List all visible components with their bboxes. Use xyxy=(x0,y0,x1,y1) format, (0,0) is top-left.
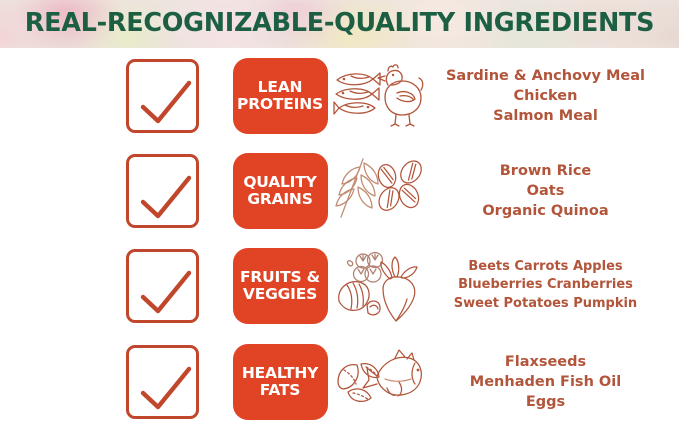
ingredient-list-cell: Sardine & Anchovy Meal Chicken Salmon Me… xyxy=(430,66,679,126)
checkbox-lean-proteins[interactable] xyxy=(126,59,199,133)
checkbox-cell xyxy=(0,345,232,419)
checkbox-quality-grains[interactable] xyxy=(126,154,199,228)
badge-lean-proteins[interactable]: LEAN PROTEINS xyxy=(233,58,328,134)
table-row: QUALITY GRAINS xyxy=(0,143,679,238)
check-mark-icon xyxy=(128,251,203,327)
ingredient-item: Oats xyxy=(527,181,565,201)
wheat-and-grains-icon xyxy=(333,155,425,227)
checkbox-cell xyxy=(0,249,232,323)
blueberries-sweet-potato-beet-icon xyxy=(333,249,425,323)
ingredient-item: Brown Rice xyxy=(500,161,592,181)
ingredient-item: Salmon Meal xyxy=(493,106,598,126)
ingredient-list-cell: Flaxseeds Menhaden Fish Oil Eggs xyxy=(430,352,679,412)
ingredient-rows: LEAN PROTEINS xyxy=(0,48,679,429)
illustration-cell xyxy=(328,346,430,418)
badge-line-2: GRAINS xyxy=(247,191,312,208)
checkbox-fruits-veggies[interactable] xyxy=(126,249,199,323)
badge-line-2: FATS xyxy=(260,382,301,399)
check-mark-icon xyxy=(128,347,203,423)
badge-line-2: VEGGIES xyxy=(243,286,317,303)
badge-line-1: QUALITY xyxy=(243,174,316,191)
illustration-cell xyxy=(328,249,430,323)
illustration-cell xyxy=(328,60,430,132)
header-banner: REAL-RECOGNIZABLE-QUALITY INGREDIENTS xyxy=(0,0,679,48)
checkbox-healthy-fats[interactable] xyxy=(126,345,199,419)
badge-line-1: HEALTHY xyxy=(242,365,318,382)
ingredient-item: Chicken xyxy=(514,86,578,106)
badge-cell: FRUITS & VEGGIES xyxy=(232,248,328,324)
flaxseed-and-fish-icon xyxy=(333,346,425,418)
badge-fruits-veggies[interactable]: FRUITS & VEGGIES xyxy=(233,248,328,324)
table-row: FRUITS & VEGGIES xyxy=(0,238,679,333)
ingredient-item: Flaxseeds xyxy=(505,352,586,372)
illustration-cell xyxy=(328,155,430,227)
checkbox-cell xyxy=(0,154,232,228)
ingredient-item: Organic Quinoa xyxy=(482,201,608,221)
page-title: REAL-RECOGNIZABLE-QUALITY INGREDIENTS xyxy=(0,0,679,48)
table-row: LEAN PROTEINS xyxy=(0,48,679,143)
ingredient-item: Eggs xyxy=(526,392,565,412)
check-mark-icon xyxy=(128,61,203,137)
badge-cell: LEAN PROTEINS xyxy=(232,58,328,134)
ingredient-list-cell: Beets Carrots Apples Blueberries Cranber… xyxy=(430,258,679,314)
ingredient-list-cell: Brown Rice Oats Organic Quinoa xyxy=(430,161,679,221)
badge-quality-grains[interactable]: QUALITY GRAINS xyxy=(233,153,328,229)
ingredient-item: Beets Carrots Apples xyxy=(468,258,622,277)
badge-cell: HEALTHY FATS xyxy=(232,344,328,420)
badge-line-1: LEAN xyxy=(258,79,303,96)
check-mark-icon xyxy=(128,156,203,232)
ingredient-item: Blueberries Cranberries xyxy=(458,276,633,295)
badge-line-2: PROTEINS xyxy=(237,96,323,113)
fish-and-chicken-icon xyxy=(333,60,425,132)
badge-cell: QUALITY GRAINS xyxy=(232,153,328,229)
table-row: HEALTHY FATS xyxy=(0,334,679,429)
badge-line-1: FRUITS & xyxy=(240,269,320,286)
ingredient-item: Menhaden Fish Oil xyxy=(470,372,621,392)
ingredient-item: Sardine & Anchovy Meal xyxy=(446,66,645,86)
checkbox-cell xyxy=(0,59,232,133)
ingredient-item: Sweet Potatoes Pumpkin xyxy=(454,295,637,314)
badge-healthy-fats[interactable]: HEALTHY FATS xyxy=(233,344,328,420)
